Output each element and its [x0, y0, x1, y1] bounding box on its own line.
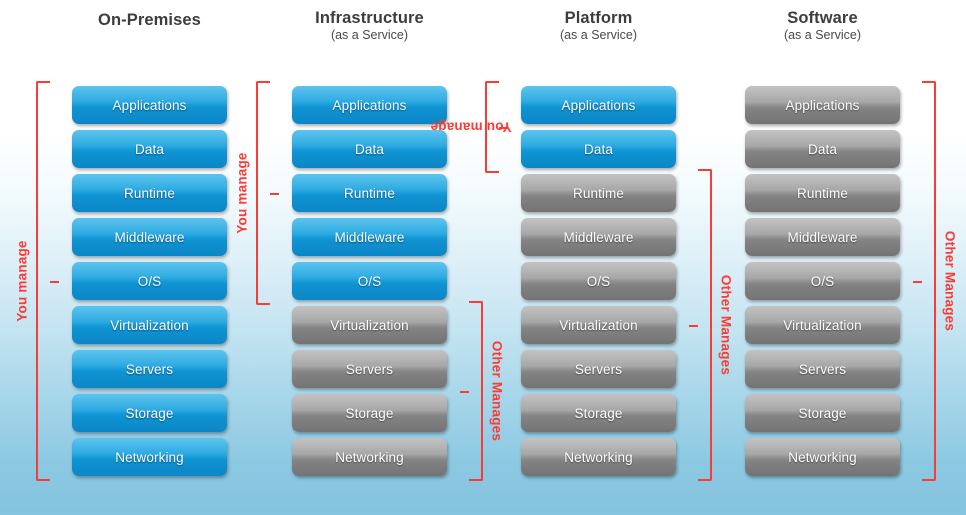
layer-box-software-as-a-service-o-s[interactable]: O/S: [745, 262, 900, 300]
layer-box-platform-as-a-service-middleware[interactable]: Middleware: [521, 218, 676, 256]
column-header-platform-as-a-service: Platform(as a Service): [521, 10, 676, 42]
layer-box-on-premises-o-s[interactable]: O/S: [72, 262, 227, 300]
bracket-label-platform-as-a-service-1: Other Manages: [719, 275, 734, 375]
layer-box-software-as-a-service-networking[interactable]: Networking: [745, 438, 900, 476]
layer-label: Virtualization: [559, 318, 637, 333]
layer-label: Applications: [333, 98, 407, 113]
column-title: Platform: [521, 10, 676, 27]
bracket-tick: [270, 193, 279, 195]
layer-box-platform-as-a-service-virtualization[interactable]: Virtualization: [521, 306, 676, 344]
layer-label: Runtime: [797, 186, 848, 201]
layer-box-platform-as-a-service-servers[interactable]: Servers: [521, 350, 676, 388]
layer-label: Middleware: [563, 230, 633, 245]
layer-label: Applications: [786, 98, 860, 113]
layer-label: Virtualization: [110, 318, 188, 333]
layer-box-infrastructure-as-a-service-middleware[interactable]: Middleware: [292, 218, 447, 256]
bracket-tick: [913, 281, 922, 283]
layer-box-software-as-a-service-middleware[interactable]: Middleware: [745, 218, 900, 256]
layer-box-platform-as-a-service-runtime[interactable]: Runtime: [521, 174, 676, 212]
bracket-label-infrastructure-as-a-service-0: You manage: [235, 152, 250, 233]
layer-label: Servers: [126, 362, 173, 377]
bracket-label-software-as-a-service-0: Other Manages: [943, 231, 958, 331]
layer-label: Networking: [335, 450, 404, 465]
column-subtitle: (as a Service): [292, 29, 447, 42]
column-subtitle: (as a Service): [521, 29, 676, 42]
layer-label: Runtime: [344, 186, 395, 201]
layer-label: Data: [135, 142, 164, 157]
layer-label: Runtime: [573, 186, 624, 201]
layer-label: Applications: [562, 98, 636, 113]
layer-box-infrastructure-as-a-service-virtualization[interactable]: Virtualization: [292, 306, 447, 344]
layer-box-software-as-a-service-runtime[interactable]: Runtime: [745, 174, 900, 212]
layer-box-on-premises-storage[interactable]: Storage: [72, 394, 227, 432]
layer-box-on-premises-runtime[interactable]: Runtime: [72, 174, 227, 212]
layer-label: Virtualization: [783, 318, 861, 333]
column-title: Software: [745, 10, 900, 27]
layer-box-on-premises-servers[interactable]: Servers: [72, 350, 227, 388]
layer-label: Networking: [564, 450, 633, 465]
bracket-tick: [689, 325, 698, 327]
layer-box-software-as-a-service-storage[interactable]: Storage: [745, 394, 900, 432]
layer-box-platform-as-a-service-data[interactable]: Data: [521, 130, 676, 168]
layer-label: Storage: [575, 406, 623, 421]
layer-label: O/S: [138, 274, 162, 289]
layer-label: O/S: [358, 274, 382, 289]
bracket-tick: [460, 391, 469, 393]
layer-box-software-as-a-service-data[interactable]: Data: [745, 130, 900, 168]
layer-label: Middleware: [114, 230, 184, 245]
layer-box-on-premises-middleware[interactable]: Middleware: [72, 218, 227, 256]
layer-label: Storage: [799, 406, 847, 421]
layer-label: Middleware: [787, 230, 857, 245]
bracket-label-on-premises-0: You manage: [15, 240, 30, 321]
layer-box-platform-as-a-service-applications[interactable]: Applications: [521, 86, 676, 124]
layer-box-software-as-a-service-applications[interactable]: Applications: [745, 86, 900, 124]
layer-label: Runtime: [124, 186, 175, 201]
layer-box-on-premises-virtualization[interactable]: Virtualization: [72, 306, 227, 344]
bracket-infrastructure-as-a-service-0: [256, 81, 270, 305]
layer-label: Data: [584, 142, 613, 157]
layer-box-infrastructure-as-a-service-data[interactable]: Data: [292, 130, 447, 168]
layer-label: Storage: [126, 406, 174, 421]
bracket-platform-as-a-service-1: [698, 169, 712, 481]
column-header-on-premises: On-Premises: [72, 12, 227, 29]
layer-label: Storage: [346, 406, 394, 421]
column-subtitle: (as a Service): [745, 29, 900, 42]
layer-box-infrastructure-as-a-service-applications[interactable]: Applications: [292, 86, 447, 124]
layer-label: Servers: [799, 362, 846, 377]
layer-box-on-premises-applications[interactable]: Applications: [72, 86, 227, 124]
layer-label: O/S: [587, 274, 611, 289]
layer-label: Networking: [115, 450, 184, 465]
layer-label: Servers: [346, 362, 393, 377]
layer-box-software-as-a-service-virtualization[interactable]: Virtualization: [745, 306, 900, 344]
column-header-software-as-a-service: Software(as a Service): [745, 10, 900, 42]
layer-box-platform-as-a-service-o-s[interactable]: O/S: [521, 262, 676, 300]
layer-box-infrastructure-as-a-service-servers[interactable]: Servers: [292, 350, 447, 388]
layer-box-infrastructure-as-a-service-o-s[interactable]: O/S: [292, 262, 447, 300]
bracket-software-as-a-service-0: [922, 81, 936, 481]
layer-label: Data: [355, 142, 384, 157]
layer-label: Virtualization: [330, 318, 408, 333]
layer-box-software-as-a-service-servers[interactable]: Servers: [745, 350, 900, 388]
bracket-on-premises-0: [36, 81, 50, 481]
layer-box-platform-as-a-service-networking[interactable]: Networking: [521, 438, 676, 476]
layer-box-infrastructure-as-a-service-runtime[interactable]: Runtime: [292, 174, 447, 212]
layer-box-infrastructure-as-a-service-storage[interactable]: Storage: [292, 394, 447, 432]
layer-label: Middleware: [334, 230, 404, 245]
layer-label: Applications: [113, 98, 187, 113]
column-header-infrastructure-as-a-service: Infrastructure(as a Service): [292, 10, 447, 42]
bracket-infrastructure-as-a-service-1: [469, 301, 483, 481]
bracket-label-infrastructure-as-a-service-1: Other Manages: [490, 341, 505, 441]
layer-label: O/S: [811, 274, 835, 289]
layer-box-infrastructure-as-a-service-networking[interactable]: Networking: [292, 438, 447, 476]
bracket-label-platform-as-a-service-0: You manage: [430, 120, 511, 135]
layer-box-platform-as-a-service-storage[interactable]: Storage: [521, 394, 676, 432]
layer-box-on-premises-data[interactable]: Data: [72, 130, 227, 168]
layer-label: Servers: [575, 362, 622, 377]
layer-label: Networking: [788, 450, 857, 465]
column-title: On-Premises: [72, 12, 227, 29]
column-title: Infrastructure: [292, 10, 447, 27]
layer-label: Data: [808, 142, 837, 157]
cloud-service-models-diagram: On-PremisesApplicationsDataRuntimeMiddle…: [0, 0, 966, 515]
bracket-tick: [50, 281, 59, 283]
layer-box-on-premises-networking[interactable]: Networking: [72, 438, 227, 476]
